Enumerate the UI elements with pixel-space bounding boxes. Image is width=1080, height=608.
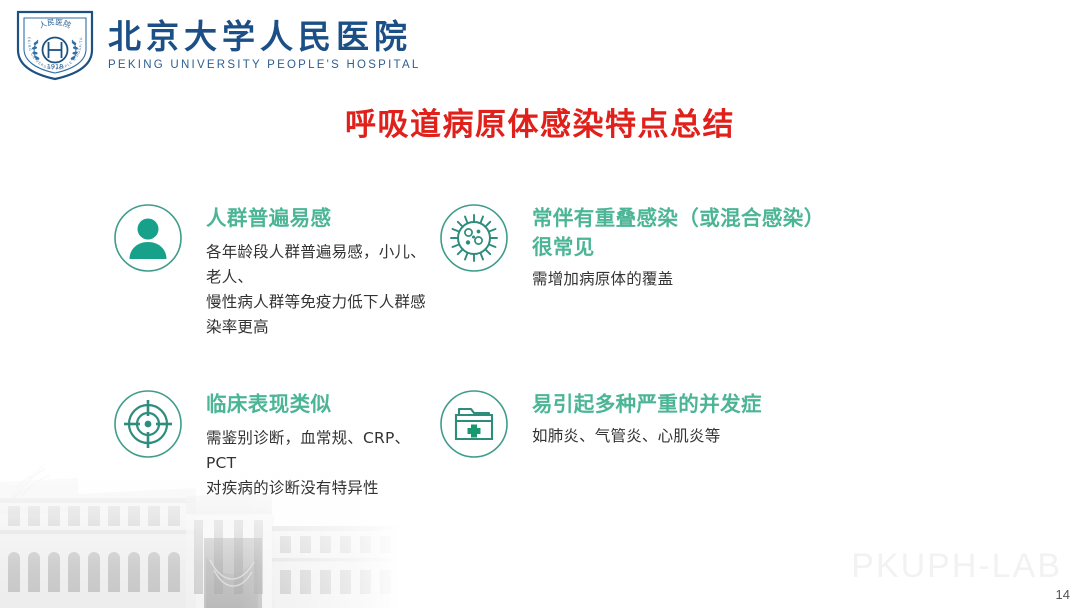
feature-item-coinfection: 常伴有重叠感染（或混合感染） 很常见 需增加病原体的覆盖 — [430, 200, 970, 341]
hospital-shield-icon: 人民医院 PEKING UNIVERSITY PEOPLE'S HOSPITAL — [12, 6, 98, 82]
feature-heading: 易引起多种严重的并发症 — [532, 390, 762, 419]
feature-item-susceptibility: 人群普遍易感 各年龄段人群普遍易感，小儿、老人、 慢性病人群等免疫力低下人群感染… — [0, 200, 430, 341]
feature-body: 如肺炎、气管炎、心肌炎等 — [532, 424, 762, 449]
feature-body: 需鉴别诊断，血常规、CRP、PCT 对疾病的诊断没有特异性 — [206, 426, 430, 501]
slide: 人民医院 PEKING UNIVERSITY PEOPLE'S HOSPITAL — [0, 0, 1080, 608]
feature-body: 各年龄段人群普遍易感，小儿、老人、 慢性病人群等免疫力低下人群感染率更高 — [206, 240, 430, 340]
hospital-name-en: PEKING UNIVERSITY PEOPLE'S HOSPITAL — [108, 57, 421, 73]
feature-heading: 临床表现类似 — [206, 390, 430, 419]
feature-body: 需增加病原体的覆盖 — [532, 267, 825, 292]
feature-heading: 人群普遍易感 — [206, 204, 430, 233]
svg-text:1918: 1918 — [47, 63, 64, 71]
feature-heading: 常伴有重叠感染（或混合感染） 很常见 — [532, 204, 825, 262]
hospital-name-cn: 北京大学人民医院 — [108, 19, 421, 55]
feature-text: 人群普遍易感 各年龄段人群普遍易感，小儿、老人、 慢性病人群等免疫力低下人群感染… — [184, 200, 430, 341]
content-row-2: 临床表现类似 需鉴别诊断，血常规、CRP、PCT 对疾病的诊断没有特异性 — [0, 386, 1080, 501]
target-icon — [112, 388, 184, 460]
hospital-wordmark: 北京大学人民医院 PEKING UNIVERSITY PEOPLE'S HOSP… — [108, 15, 421, 74]
page-number: 14 — [1056, 587, 1070, 602]
feature-text: 临床表现类似 需鉴别诊断，血常规、CRP、PCT 对疾病的诊断没有特异性 — [184, 386, 430, 501]
virus-icon — [438, 202, 510, 274]
content-grid: 人群普遍易感 各年龄段人群普遍易感，小儿、老人、 慢性病人群等免疫力低下人群感染… — [0, 200, 1080, 501]
slide-title: 呼吸道病原体感染特点总结 — [0, 99, 1080, 144]
hospital-logo-header: 人民医院 PEKING UNIVERSITY PEOPLE'S HOSPITAL — [12, 6, 421, 82]
feature-item-similar-symptoms: 临床表现类似 需鉴别诊断，血常规、CRP、PCT 对疾病的诊断没有特异性 — [0, 386, 430, 501]
feature-item-complications: 易引起多种严重的并发症 如肺炎、气管炎、心肌炎等 — [430, 386, 970, 501]
content-row-1: 人群普遍易感 各年龄段人群普遍易感，小儿、老人、 慢性病人群等免疫力低下人群感染… — [0, 200, 1080, 341]
feature-text: 常伴有重叠感染（或混合感染） 很常见 需增加病原体的覆盖 — [510, 200, 825, 292]
watermark: PKUPH-LAB — [851, 547, 1062, 586]
feature-text: 易引起多种严重的并发症 如肺炎、气管炎、心肌炎等 — [510, 386, 762, 449]
person-icon — [112, 202, 184, 274]
medical-folder-icon — [438, 388, 510, 460]
